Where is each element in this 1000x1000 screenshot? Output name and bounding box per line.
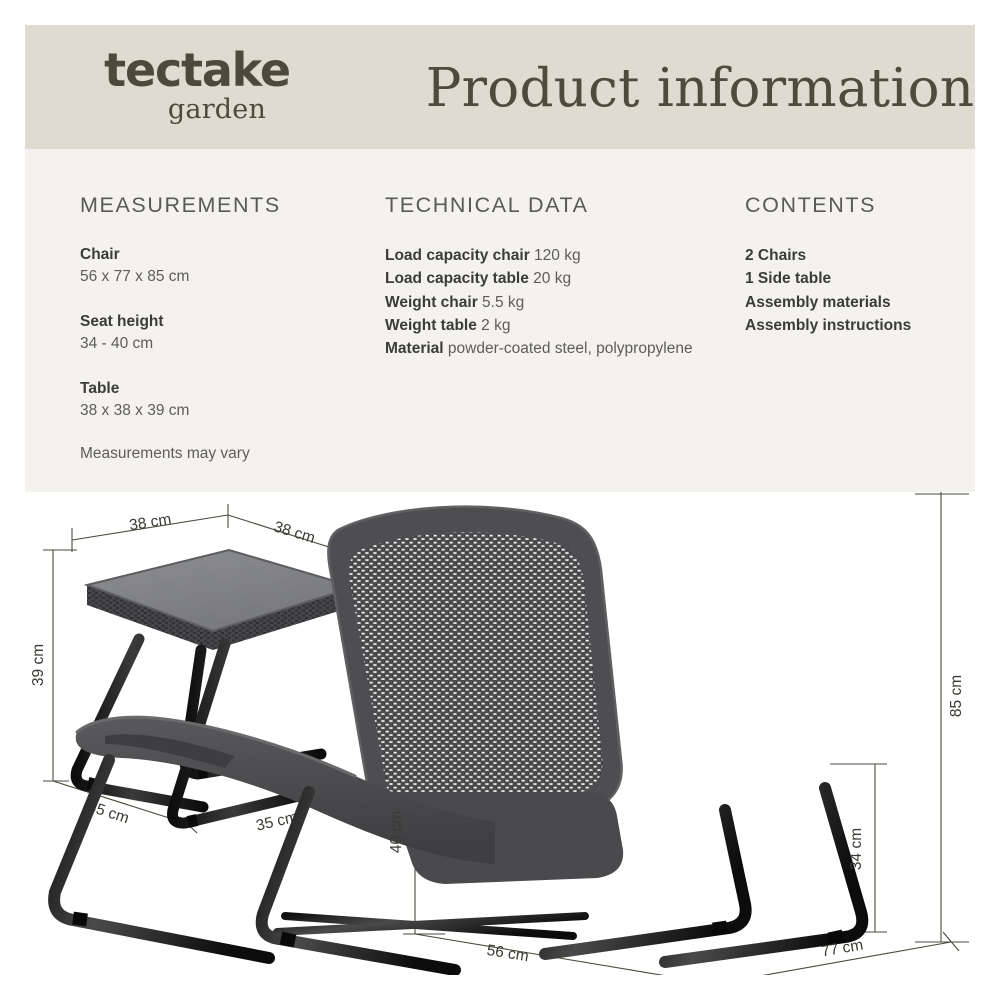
chair-dim-seat-height-front: 40 cm [388, 811, 405, 853]
measurement-label: Seat height [80, 311, 370, 333]
measurement-value: 56 x 77 x 85 cm [80, 266, 370, 288]
technical-item: Material powder-coated steel, polypropyl… [385, 337, 715, 360]
brand-sub-name: garden [122, 96, 312, 123]
measurements-heading: MEASUREMENTS [80, 193, 370, 218]
technical-label: Material [385, 340, 444, 357]
contents-item: Assembly materials [745, 291, 975, 314]
technical-value: powder-coated steel, polypropylene [448, 340, 693, 357]
technical-item: Weight table 2 kg [385, 314, 715, 337]
measurements-note: Measurements may vary [80, 445, 370, 463]
technical-value: 5.5 kg [482, 294, 524, 311]
technical-label: Load capacity table [385, 270, 529, 287]
technical-label: Load capacity chair [385, 247, 530, 264]
technical-label: Weight table [385, 317, 477, 334]
product-information-sheet: tectake garden Product information MEASU… [25, 25, 975, 975]
chair-dim-total-height: 85 cm [948, 675, 965, 717]
measurements-column: MEASUREMENTS Chair 56 x 77 x 85 cm Seat … [80, 193, 370, 463]
technical-label: Weight chair [385, 294, 478, 311]
technical-data-heading: TECHNICAL DATA [385, 193, 715, 218]
measurement-item: Chair 56 x 77 x 85 cm [80, 244, 370, 289]
chair-backrest-weave [349, 532, 602, 821]
brand-logo: tectake garden [82, 47, 312, 123]
contents-item: 1 Side table [745, 267, 975, 290]
contents-item: 2 Chairs [745, 244, 975, 267]
chair-dim-width: 56 cm [486, 942, 530, 965]
header-band: tectake garden Product information [25, 25, 975, 149]
contents-column: CONTENTS 2 Chairs 1 Side table Assembly … [745, 193, 975, 337]
technical-item: Weight chair 5.5 kg [385, 291, 715, 314]
measurement-item: Table 38 x 38 x 39 cm [80, 378, 370, 423]
technical-value: 20 kg [533, 270, 571, 287]
technical-item: Load capacity table 20 kg [385, 267, 715, 290]
technical-data-column: TECHNICAL DATA Load capacity chair 120 k… [385, 193, 715, 360]
measurement-value: 34 - 40 cm [80, 333, 370, 355]
measurement-value: 38 x 38 x 39 cm [80, 400, 370, 422]
contents-heading: CONTENTS [745, 193, 975, 218]
table-dim-top-right: 38 cm [272, 518, 317, 547]
technical-value: 120 kg [534, 247, 581, 264]
technical-item: Load capacity chair 120 kg [385, 244, 715, 267]
contents-item: Assembly instructions [745, 314, 975, 337]
specification-panel: MEASUREMENTS Chair 56 x 77 x 85 cm Seat … [25, 149, 975, 492]
brand-name: tectake [82, 47, 312, 93]
product-illustrations: 38 cm 38 cm 39 cm 35 cm 35 cm [25, 492, 975, 975]
table-dim-top-left: 38 cm [128, 511, 172, 534]
table-dim-height: 39 cm [30, 644, 47, 686]
page-title: Product information [425, 57, 975, 121]
measurement-label: Chair [80, 244, 370, 266]
measurement-item: Seat height 34 - 40 cm [80, 311, 370, 356]
technical-value: 2 kg [481, 317, 510, 334]
measurement-label: Table [80, 378, 370, 400]
chair-dim-seat-height-back: 34 cm [848, 828, 865, 870]
